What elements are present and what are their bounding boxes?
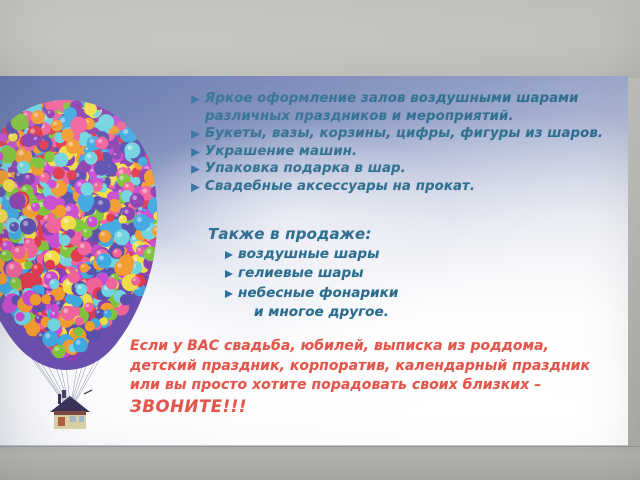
- advertisement-card: Яркое оформление залов воздушными шарами…: [0, 76, 628, 446]
- table-surface-top: [0, 0, 640, 78]
- table-surface-bottom: [0, 446, 640, 480]
- photo-canvas: Яркое оформление залов воздушными шарами…: [0, 0, 640, 480]
- card-edge: [0, 76, 628, 446]
